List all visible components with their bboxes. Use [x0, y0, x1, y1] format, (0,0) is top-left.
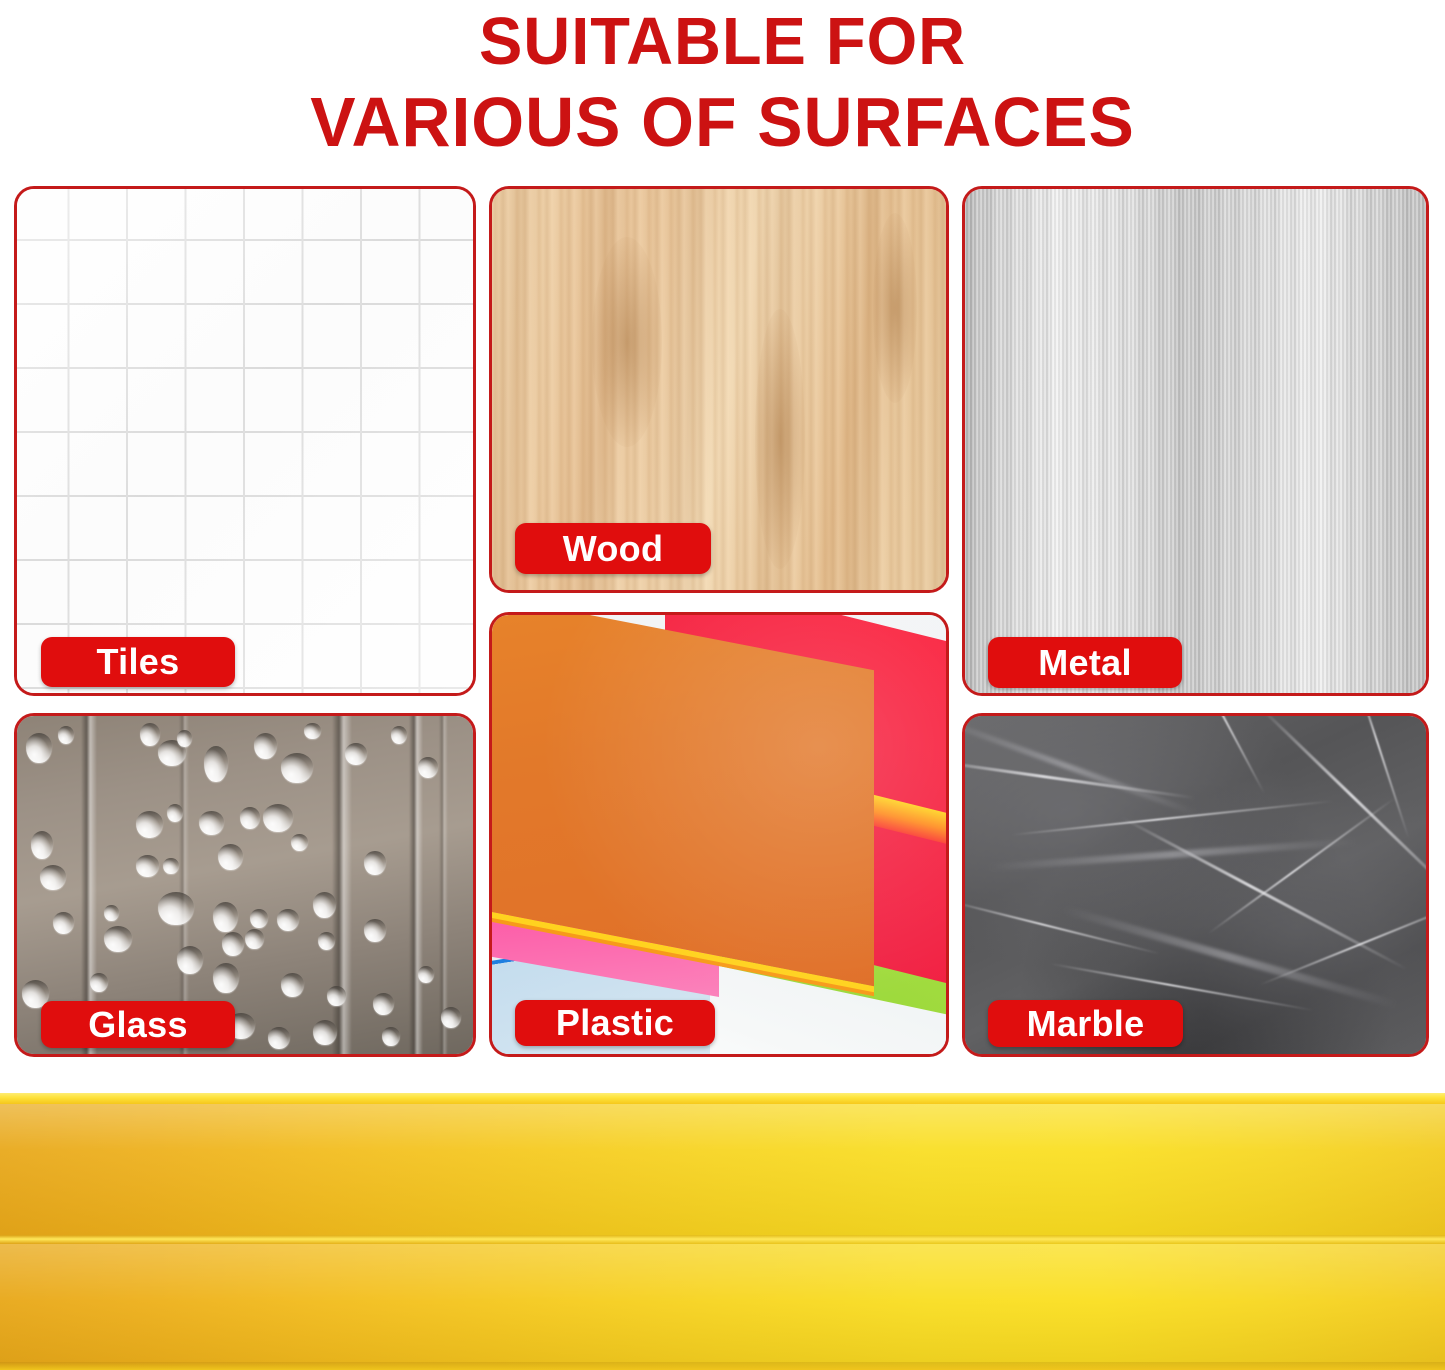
water-droplet	[281, 753, 313, 783]
water-droplet	[26, 733, 52, 763]
tiles-texture	[17, 189, 473, 693]
surface-label-marble: Marble	[988, 1000, 1183, 1047]
water-droplet	[163, 858, 179, 874]
water-droplet	[364, 851, 386, 875]
plastic-highlight	[492, 615, 946, 1054]
water-droplet	[441, 1007, 461, 1028]
marble-vein	[962, 758, 1194, 799]
water-droplet	[213, 902, 238, 932]
water-droplet	[177, 946, 203, 974]
surface-card-plastic	[489, 612, 949, 1057]
water-droplet	[263, 804, 293, 832]
water-droplet	[373, 993, 394, 1015]
water-droplet	[31, 831, 53, 859]
surface-label-tiles: Tiles	[41, 637, 235, 687]
bar-bottom-edge	[0, 1362, 1445, 1370]
surface-card-tiles	[14, 186, 476, 696]
water-droplet	[213, 963, 239, 993]
water-droplet	[58, 726, 74, 744]
water-droplet	[104, 905, 119, 921]
yellow-tool-strip	[0, 1093, 1445, 1370]
water-droplet	[291, 834, 308, 851]
water-droplet	[304, 723, 321, 739]
water-droplet	[391, 726, 407, 744]
water-droplet	[240, 807, 260, 829]
water-droplet	[313, 892, 336, 918]
water-droplet	[382, 1027, 400, 1046]
water-droplet	[199, 811, 224, 835]
wood-grain-knot	[755, 309, 805, 569]
marble-vein	[1190, 713, 1265, 793]
water-droplet	[418, 966, 434, 983]
wood-grain-knot	[873, 213, 917, 403]
surface-card-metal	[962, 186, 1429, 696]
water-droplet	[90, 973, 108, 992]
water-droplet	[364, 919, 386, 942]
water-droplet	[204, 746, 228, 782]
water-droplet	[245, 929, 264, 949]
water-droplet	[136, 811, 163, 838]
water-droplet	[250, 909, 268, 928]
glass-streak	[439, 713, 448, 1057]
water-droplet	[218, 844, 243, 870]
surface-label-wood: Wood	[515, 523, 711, 574]
marble-vein-soft	[1063, 905, 1398, 1008]
water-droplet	[318, 932, 335, 950]
page-title: SUITABLE FOR VARIOUS OF SURFACES	[0, 0, 1445, 172]
bar-top-highlight	[0, 1093, 1445, 1104]
headline-line-2: VARIOUS OF SURFACES	[22, 82, 1424, 162]
water-droplet	[140, 723, 160, 746]
water-droplet	[136, 855, 159, 877]
bar-seam-line	[0, 1235, 1445, 1244]
bar-gloss-lower	[0, 1244, 1445, 1370]
metal-texture	[965, 189, 1426, 693]
surface-label-metal: Metal	[988, 637, 1182, 688]
water-droplet	[177, 730, 192, 747]
marble-vein-soft	[962, 716, 1197, 816]
water-droplet	[158, 892, 194, 925]
water-droplet	[104, 926, 132, 952]
water-droplet	[40, 865, 66, 890]
water-droplet	[418, 757, 438, 778]
bar-gloss-upper	[0, 1104, 1445, 1235]
water-droplet	[254, 733, 277, 759]
surface-label-plastic: Plastic	[515, 1000, 715, 1046]
water-droplet	[222, 932, 244, 956]
surface-label-glass: Glass	[41, 1001, 235, 1048]
wood-grain-knot	[592, 237, 662, 447]
water-droplet	[277, 909, 299, 931]
water-droplet	[281, 973, 304, 997]
water-droplet	[53, 912, 74, 934]
water-droplet	[268, 1027, 290, 1049]
headline-line-1: SUITABLE FOR	[22, 2, 1424, 82]
water-droplet	[345, 743, 367, 765]
plastic-texture	[492, 615, 946, 1054]
